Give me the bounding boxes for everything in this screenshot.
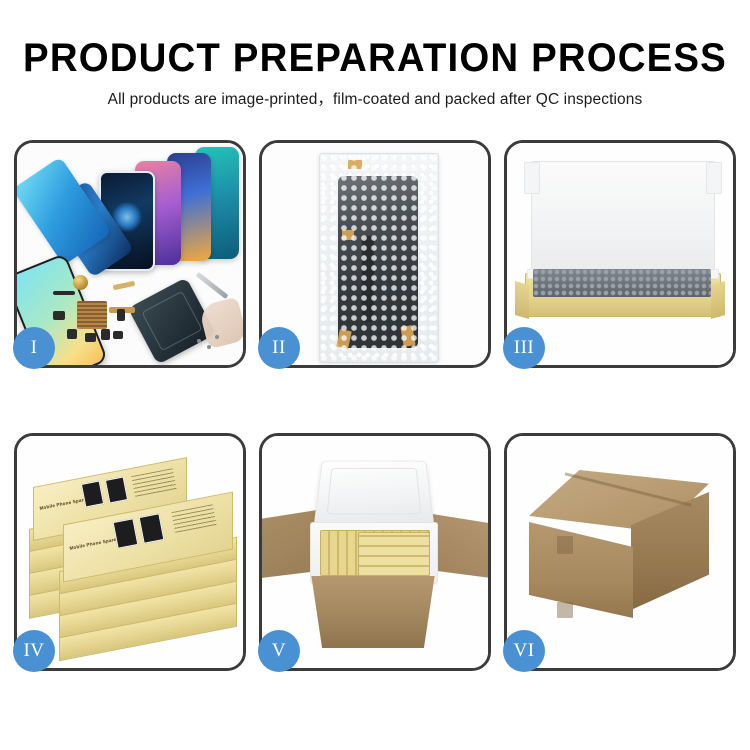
- small-part-5: [113, 331, 123, 339]
- step-4-image: Mobile Phone Spare Parts Mobile Phone Sp…: [17, 436, 243, 668]
- tape-top: [348, 160, 362, 169]
- step-badge-6: VI: [503, 630, 545, 672]
- step-badge-3: III: [503, 327, 545, 369]
- step-5-image: [262, 436, 488, 668]
- carton-tape-lower: [557, 602, 573, 618]
- step-badge-5: V: [258, 630, 300, 672]
- phone-parts-illustration: [17, 143, 243, 365]
- small-part-2: [67, 329, 77, 339]
- step-1-image: [17, 143, 243, 365]
- box-lid-white: [531, 161, 715, 281]
- wrapped-screen-assembly: [338, 176, 418, 348]
- carton-tape-upper: [557, 536, 573, 554]
- carton-loading-illustration: [262, 436, 488, 668]
- logic-board-part: [77, 301, 107, 329]
- step-badge-4: IV: [13, 630, 55, 672]
- yellow-boxes-row-2: [358, 532, 430, 576]
- gray-foam-insert: [533, 269, 711, 297]
- screw-3: [215, 335, 219, 339]
- small-part-4: [101, 329, 110, 340]
- hand: [198, 297, 243, 349]
- process-step-2[interactable]: II Screen assembly sealed in bubble wrap…: [259, 140, 491, 368]
- page-subtitle: All products are image-printed，film-coat…: [0, 92, 750, 108]
- camera-module-part: [117, 309, 125, 321]
- step-6-image: [507, 436, 733, 668]
- step-badge-2: II: [258, 327, 300, 369]
- page-title: PRODUCT PREPARATION PROCESS: [15, 38, 735, 78]
- process-step-3[interactable]: III Open kraft inner box with protective…: [504, 140, 736, 368]
- step-3-image: [507, 143, 733, 365]
- box-stack: Mobile Phone Spare Parts Mobile Phone Sp…: [27, 466, 241, 646]
- tray-flap-left: [515, 281, 529, 319]
- process-step-grid: I Mobile phone screens, displays and spa…: [14, 140, 736, 671]
- screw-1: [197, 339, 201, 343]
- tape-mid: [342, 230, 354, 240]
- carton-body: [306, 576, 440, 648]
- bubble-wrap-bag: [319, 153, 439, 363]
- process-step-1[interactable]: I Mobile phone screens, displays and spa…: [14, 140, 246, 368]
- step-badge-1: I: [13, 327, 55, 369]
- carton-front-face: [529, 522, 633, 618]
- sealed-carton-illustration: [507, 436, 733, 668]
- foam-box-illustration: [507, 143, 733, 365]
- screw-2: [207, 345, 211, 349]
- step-2-image: [262, 143, 488, 365]
- tweezers-tool: [195, 272, 228, 299]
- small-part-1: [53, 311, 65, 320]
- process-step-4[interactable]: Mobile Phone Spare Parts Mobile Phone Sp…: [14, 433, 246, 671]
- vibration-motor-part: [73, 275, 88, 290]
- stacked-boxes-illustration: Mobile Phone Spare Parts Mobile Phone Sp…: [17, 436, 243, 668]
- bubble-wrap-illustration: [262, 143, 488, 365]
- flex-cable-part-b: [113, 281, 136, 290]
- small-part-3: [85, 333, 96, 342]
- page-header: PRODUCT PREPARATION PROCESS All products…: [0, 0, 750, 108]
- process-step-6[interactable]: VI Sealed outer shipping carton ready fo…: [504, 433, 736, 671]
- flex-cable-part-a: [53, 291, 75, 295]
- styrofoam-lid: [314, 461, 435, 526]
- tray-flap-right: [711, 281, 725, 319]
- process-step-5[interactable]: V Boxes loaded into foam-lined shipping …: [259, 433, 491, 671]
